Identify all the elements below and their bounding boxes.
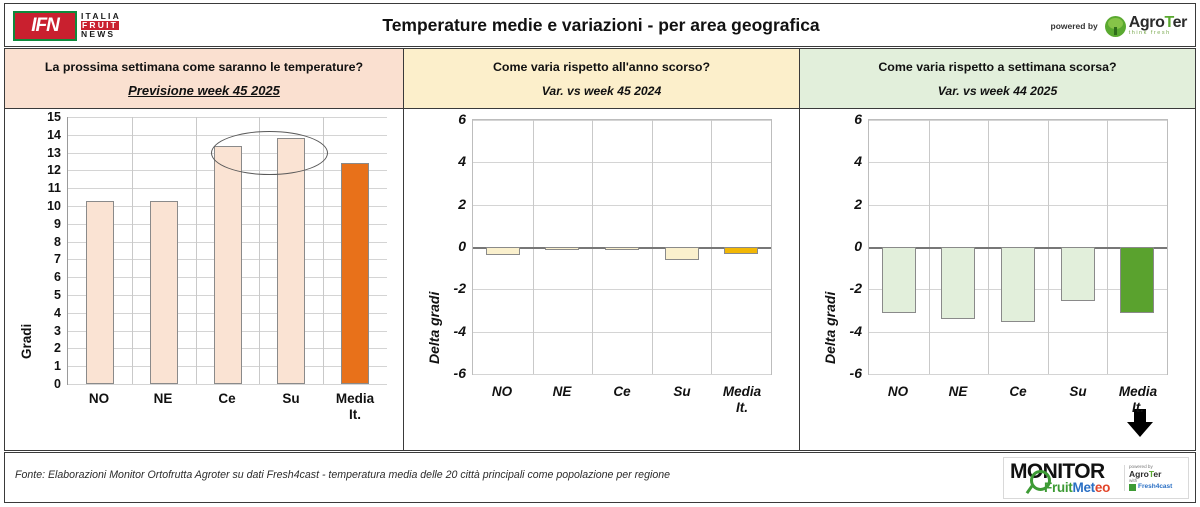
gridline bbox=[869, 374, 1167, 375]
bar bbox=[941, 247, 975, 319]
y-axis-tick-label: 6 bbox=[404, 111, 466, 127]
bar bbox=[665, 247, 699, 260]
gridline bbox=[68, 384, 387, 385]
y-axis-tick-label: -4 bbox=[800, 323, 862, 339]
panel-1-subtitle: Previsione week 45 2025 bbox=[128, 83, 280, 98]
x-axis-tick-label: NO bbox=[868, 384, 928, 415]
gridline bbox=[869, 162, 1167, 163]
y-axis-tick-label: 10 bbox=[5, 199, 61, 213]
bar bbox=[1001, 247, 1035, 322]
x-axis-tick-label: NE bbox=[928, 384, 988, 415]
y-axis-tick-label: 8 bbox=[5, 235, 61, 249]
x-axis-tick-label: MediaIt. bbox=[712, 384, 772, 415]
panel-1-body: Gradi 0123456789101112131415 NONECeSuMed… bbox=[5, 109, 403, 450]
panel-var-settimana: Come varia rispetto a settimana scorsa? … bbox=[800, 48, 1196, 451]
chart-2-x-labels: NONECeSuMediaIt. bbox=[472, 384, 772, 415]
panel-1-question: La prossima settimana come saranno le te… bbox=[45, 61, 363, 75]
monitor-wordmark: MONITOR FruitMeteo bbox=[1007, 462, 1124, 495]
bar bbox=[605, 247, 639, 250]
gridline bbox=[473, 205, 771, 206]
panel-2-question: Come varia rispetto all'anno scorso? bbox=[493, 61, 710, 75]
x-axis-tick-label: NO bbox=[67, 391, 131, 422]
x-axis-tick-label: NE bbox=[532, 384, 592, 415]
monitor-agroter-name: AgroTer bbox=[1129, 470, 1185, 479]
y-axis-tick-label: 6 bbox=[5, 270, 61, 284]
gridline bbox=[68, 135, 387, 136]
y-axis-tick-label: 14 bbox=[5, 128, 61, 142]
bar bbox=[277, 138, 305, 384]
y-axis-tick-label: 7 bbox=[5, 252, 61, 266]
bar bbox=[724, 247, 758, 254]
y-axis-tick-label: -6 bbox=[800, 365, 862, 381]
y-axis-tick-label: 0 bbox=[800, 238, 862, 254]
ifn-logo: IFN ITALIA FRUIT NEWS bbox=[13, 9, 131, 42]
chart-1-x-labels: NONECeSuMediaIt. bbox=[67, 391, 387, 422]
bar bbox=[86, 201, 114, 384]
gridline bbox=[68, 117, 387, 118]
tree-icon bbox=[1105, 16, 1126, 37]
bar bbox=[214, 146, 242, 384]
y-axis-tick-label: 5 bbox=[5, 288, 61, 302]
category-separator bbox=[132, 117, 133, 384]
panel-3-subtitle: Var. vs week 44 2025 bbox=[938, 84, 1058, 98]
gridline bbox=[473, 332, 771, 333]
x-axis-tick-label: NO bbox=[472, 384, 532, 415]
source-note: Fonte: Elaborazioni Monitor Ortofrutta A… bbox=[15, 469, 670, 481]
y-axis-tick-label: 2 bbox=[404, 196, 466, 212]
ifn-logo-words: ITALIA FRUIT NEWS bbox=[81, 12, 121, 39]
x-axis-tick-label: NE bbox=[131, 391, 195, 422]
y-axis-tick-label: 6 bbox=[800, 111, 862, 127]
fruitmeteo-word: FruitMeteo bbox=[1044, 482, 1124, 494]
y-axis-tick-label: -2 bbox=[404, 280, 466, 296]
x-axis-tick-label: MediaIt. bbox=[1108, 384, 1168, 415]
x-axis-tick-label: Ce bbox=[592, 384, 652, 415]
x-axis-tick-label: Ce bbox=[988, 384, 1048, 415]
y-axis-tick-label: 9 bbox=[5, 217, 61, 231]
category-separator bbox=[196, 117, 197, 384]
powered-by-label: powered by bbox=[1051, 21, 1098, 31]
partner-square-icon bbox=[1129, 484, 1136, 491]
infographic-page: Temperature medie e variazioni - per are… bbox=[0, 0, 1200, 507]
gridline bbox=[473, 374, 771, 375]
panel-2-header: Come varia rispetto all'anno scorso? Var… bbox=[404, 49, 799, 109]
y-axis-tick-label: 3 bbox=[5, 324, 61, 338]
y-axis-tick-label: 4 bbox=[404, 153, 466, 169]
bar bbox=[882, 247, 916, 313]
footer-bar: Fonte: Elaborazioni Monitor Ortofrutta A… bbox=[4, 452, 1196, 503]
gridline bbox=[473, 120, 771, 121]
ifn-word-news: NEWS bbox=[81, 30, 121, 39]
x-axis-tick-label: Su bbox=[652, 384, 712, 415]
panel-1-header: La prossima settimana come saranno le te… bbox=[5, 49, 403, 109]
y-axis-tick-label: -4 bbox=[404, 323, 466, 339]
ifn-logo-icon: IFN bbox=[13, 11, 77, 41]
monitor-fruitmeteo-logo: MONITOR FruitMeteo powered by AgroTer wi… bbox=[1003, 457, 1189, 499]
y-axis-tick-label: 1 bbox=[5, 359, 61, 373]
monitor-partners: powered by AgroTer with Fresh4cast bbox=[1124, 465, 1185, 492]
monitor-word-top: MONITOR bbox=[1010, 462, 1124, 481]
powered-by-block: powered by AgroTer think fresh bbox=[1051, 12, 1187, 40]
panel-2-subtitle: Var. vs week 45 2024 bbox=[542, 84, 662, 98]
highlight-ellipse-annotation bbox=[211, 131, 328, 175]
bar bbox=[1120, 247, 1154, 313]
x-axis-tick-label: Su bbox=[259, 391, 323, 422]
agroter-name: AgroTer bbox=[1129, 15, 1187, 31]
ifn-mark-text: IFN bbox=[31, 16, 59, 35]
panel-3-body: Delta gradi -6-4-20246 NONECeSuMediaIt. bbox=[800, 109, 1195, 450]
y-axis-tick-label: 12 bbox=[5, 163, 61, 177]
agroter-wordmark: AgroTer think fresh bbox=[1129, 15, 1187, 37]
magnifier-icon bbox=[1030, 470, 1051, 491]
y-axis-tick-label: 0 bbox=[5, 377, 61, 391]
bar bbox=[1061, 247, 1095, 301]
x-axis-tick-label: Ce bbox=[195, 391, 259, 422]
y-axis-tick-label: 0 bbox=[404, 238, 466, 254]
y-axis-tick-label: 4 bbox=[5, 306, 61, 320]
panel-2-body: Delta gradi -6-4-20246 NONECeSuMediaIt. bbox=[404, 109, 799, 450]
y-axis-tick-label: 13 bbox=[5, 146, 61, 160]
y-axis-tick-label: -2 bbox=[800, 280, 862, 296]
y-axis-tick-label: 4 bbox=[800, 153, 862, 169]
panel-3-question: Come varia rispetto a settimana scorsa? bbox=[878, 61, 1116, 75]
panel-3-header: Come varia rispetto a settimana scorsa? … bbox=[800, 49, 1195, 109]
chart-3-x-labels: NONECeSuMediaIt. bbox=[868, 384, 1168, 415]
gridline bbox=[869, 205, 1167, 206]
gridline bbox=[869, 332, 1167, 333]
agroter-tagline: think fresh bbox=[1129, 31, 1187, 37]
gridline bbox=[473, 162, 771, 163]
bar bbox=[150, 201, 178, 384]
x-axis-tick-label: MediaIt. bbox=[323, 391, 387, 422]
y-axis-tick-label: 11 bbox=[5, 181, 61, 195]
y-axis-tick-label: 2 bbox=[800, 196, 862, 212]
page-title: Temperature medie e variazioni - per are… bbox=[5, 4, 1197, 46]
y-axis-tick-label: 2 bbox=[5, 341, 61, 355]
bar bbox=[486, 247, 520, 255]
y-axis-tick-label: 15 bbox=[5, 110, 61, 124]
panels-container: La prossima settimana come saranno le te… bbox=[4, 48, 1196, 451]
panel-var-anno: Come varia rispetto all'anno scorso? Var… bbox=[404, 48, 800, 451]
panel-previsione: La prossima settimana come saranno le te… bbox=[4, 48, 404, 451]
chart-2-plot-area bbox=[472, 119, 772, 375]
bar bbox=[545, 247, 579, 250]
agroter-logo: AgroTer think fresh bbox=[1105, 15, 1187, 37]
gridline bbox=[869, 120, 1167, 121]
header-bar: Temperature medie e variazioni - per are… bbox=[4, 3, 1196, 47]
bar bbox=[341, 163, 369, 384]
chart-3-plot-area bbox=[868, 119, 1168, 375]
x-axis-tick-label: Su bbox=[1048, 384, 1108, 415]
monitor-partner-name: Fresh4cast bbox=[1129, 484, 1185, 491]
y-axis-tick-label: -6 bbox=[404, 365, 466, 381]
gridline bbox=[473, 289, 771, 290]
